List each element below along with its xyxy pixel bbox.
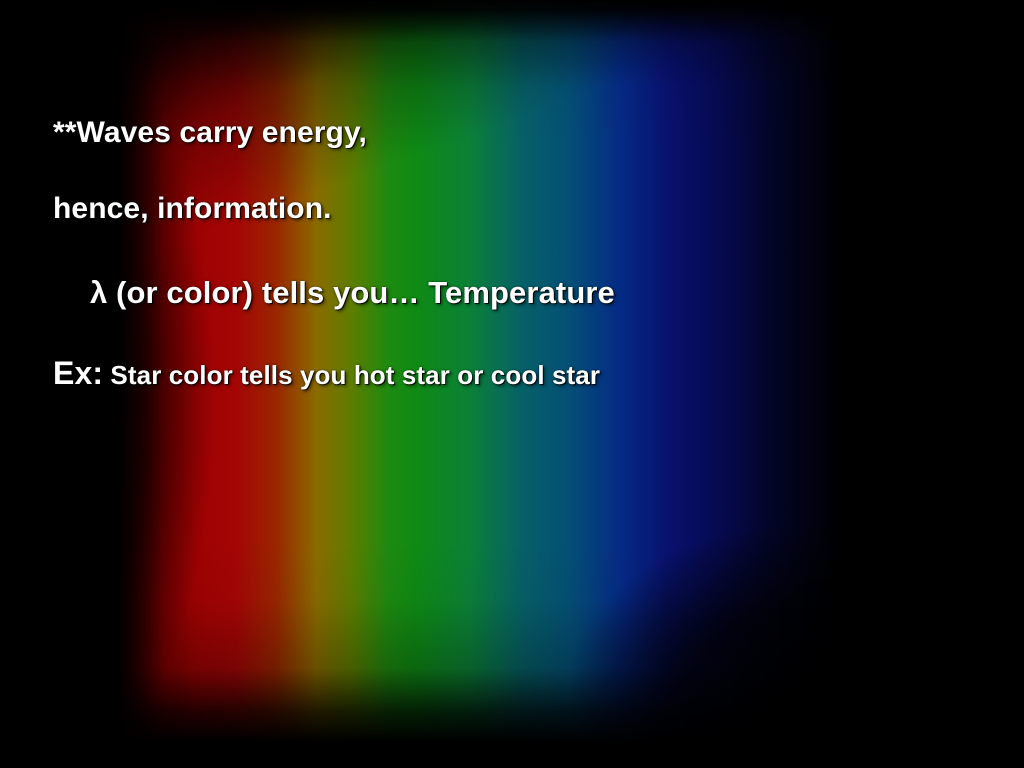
slide-text-line-4: Ex: Star color tells you hot star or coo…: [53, 355, 600, 392]
slide-canvas: **Waves carry energy, hence, information…: [0, 0, 1024, 768]
slide-text-line-3: λ (or color) tells you… Temperature: [90, 275, 615, 311]
example-text: Star color tells you hot star or cool st…: [103, 360, 600, 390]
slide-text-block: **Waves carry energy, hence, information…: [0, 0, 1024, 768]
example-label: Ex:: [53, 355, 103, 391]
slide-text-line-1: **Waves carry energy,: [53, 116, 367, 150]
slide-text-line-2: hence, information.: [53, 192, 332, 226]
